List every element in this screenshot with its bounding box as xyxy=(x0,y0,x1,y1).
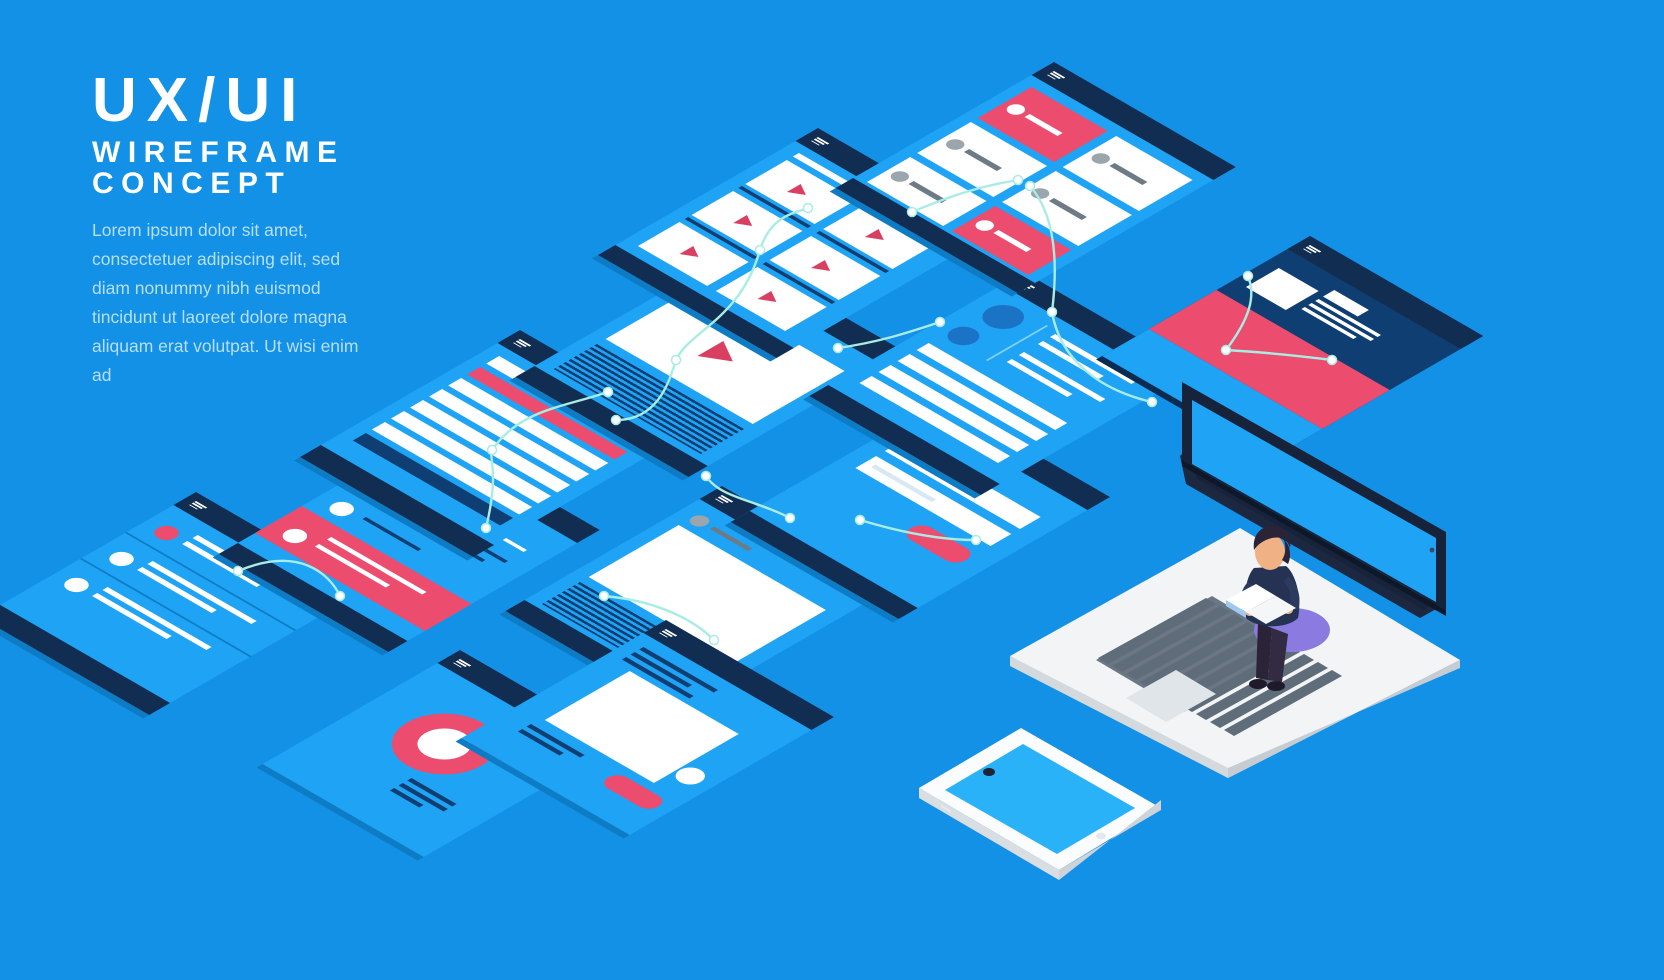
list-line xyxy=(92,593,172,639)
person-shoe xyxy=(1249,679,1267,689)
laptop-camera-icon xyxy=(1430,548,1435,553)
card-topbar xyxy=(1287,236,1483,349)
phone-home-button xyxy=(1096,833,1106,840)
intro-paragraph: Lorem ipsum dolor sit amet, consectetuer… xyxy=(92,216,377,390)
page-subtitle-1: WIREFRAME xyxy=(92,137,522,169)
camera-dot-icon xyxy=(983,768,995,776)
card-edge xyxy=(256,764,423,861)
radio-icon[interactable] xyxy=(324,499,359,519)
hamburger-menu-icon[interactable] xyxy=(453,659,471,670)
hamburger-menu-icon[interactable] xyxy=(1303,245,1321,256)
page-subtitle-2: CONCEPT xyxy=(92,168,522,200)
chart-label-line xyxy=(390,788,424,808)
list-line xyxy=(137,567,217,613)
text-line xyxy=(1301,307,1356,339)
headline-block: UX/UI WIREFRAME CONCEPT Lorem ipsum dolo… xyxy=(92,72,522,390)
illustration-canvas: UX/UI WIREFRAME CONCEPT Lorem ipsum dolo… xyxy=(0,0,1664,980)
hamburger-menu-icon[interactable] xyxy=(811,137,829,148)
list-line xyxy=(102,587,211,650)
avatar xyxy=(974,300,1033,334)
smartphone xyxy=(905,700,1175,880)
hamburger-menu-icon[interactable] xyxy=(1047,71,1065,82)
person-shoe xyxy=(1267,681,1285,691)
radio-icon[interactable] xyxy=(104,549,139,569)
page-title: UX/UI xyxy=(92,72,522,131)
avatar xyxy=(686,513,714,529)
radio-icon[interactable] xyxy=(59,575,94,595)
checkmark-icon[interactable] xyxy=(149,523,184,543)
hamburger-menu-icon[interactable] xyxy=(189,501,207,512)
hamburger-menu-icon[interactable] xyxy=(715,495,733,506)
avatar xyxy=(941,323,986,349)
thumbnail xyxy=(1246,268,1319,310)
hamburger-menu-icon[interactable] xyxy=(659,629,677,640)
